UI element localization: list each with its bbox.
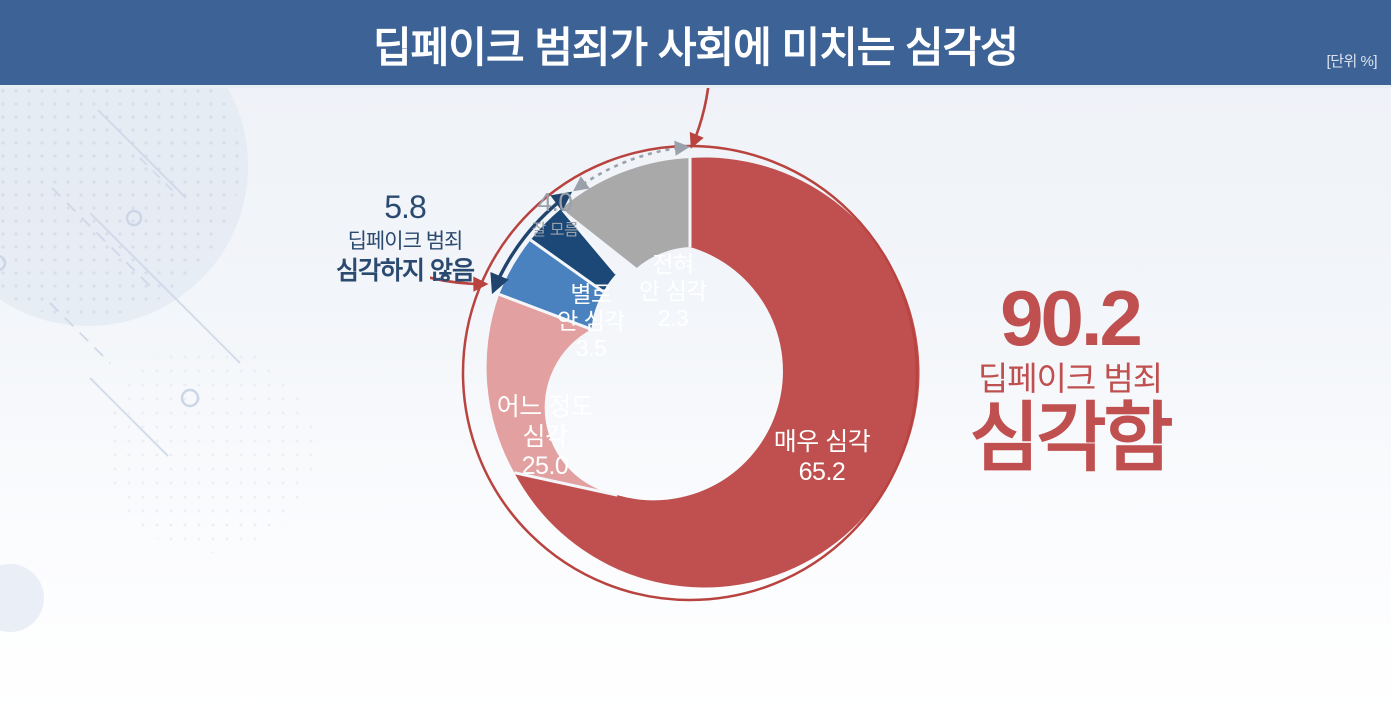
- page-title: 딥페이크 범죄가 사회에 미치는 심각성: [0, 0, 1391, 88]
- callout-not-serious: 5.8 딥페이크 범죄 심각하지 않음: [270, 188, 540, 286]
- slice-label-somewhat-serious: 어느 정도 심각 25.0: [470, 393, 620, 482]
- unit-label: [단위 %]: [1327, 50, 1377, 71]
- page-header: 딥페이크 범죄가 사회에 미치는 심각성 [단위 %]: [0, 0, 1391, 88]
- slice-label-very-serious: 매우 심각 65.2: [752, 428, 892, 487]
- infographic-page: 딥페이크 범죄가 사회에 미치는 심각성 [단위 %]: [0, 0, 1391, 722]
- chart-area: 매우 심각 65.2 어느 정도 심각 25.0 별로 안 심각 3.5 전혀 …: [0, 88, 1391, 722]
- donut-chart: [430, 88, 970, 628]
- slice-label-not-at-all-serious: 전혀 안 심각 2.3: [618, 251, 728, 332]
- callout-serious: 90.2 딥페이크 범죄 심각함: [900, 278, 1240, 478]
